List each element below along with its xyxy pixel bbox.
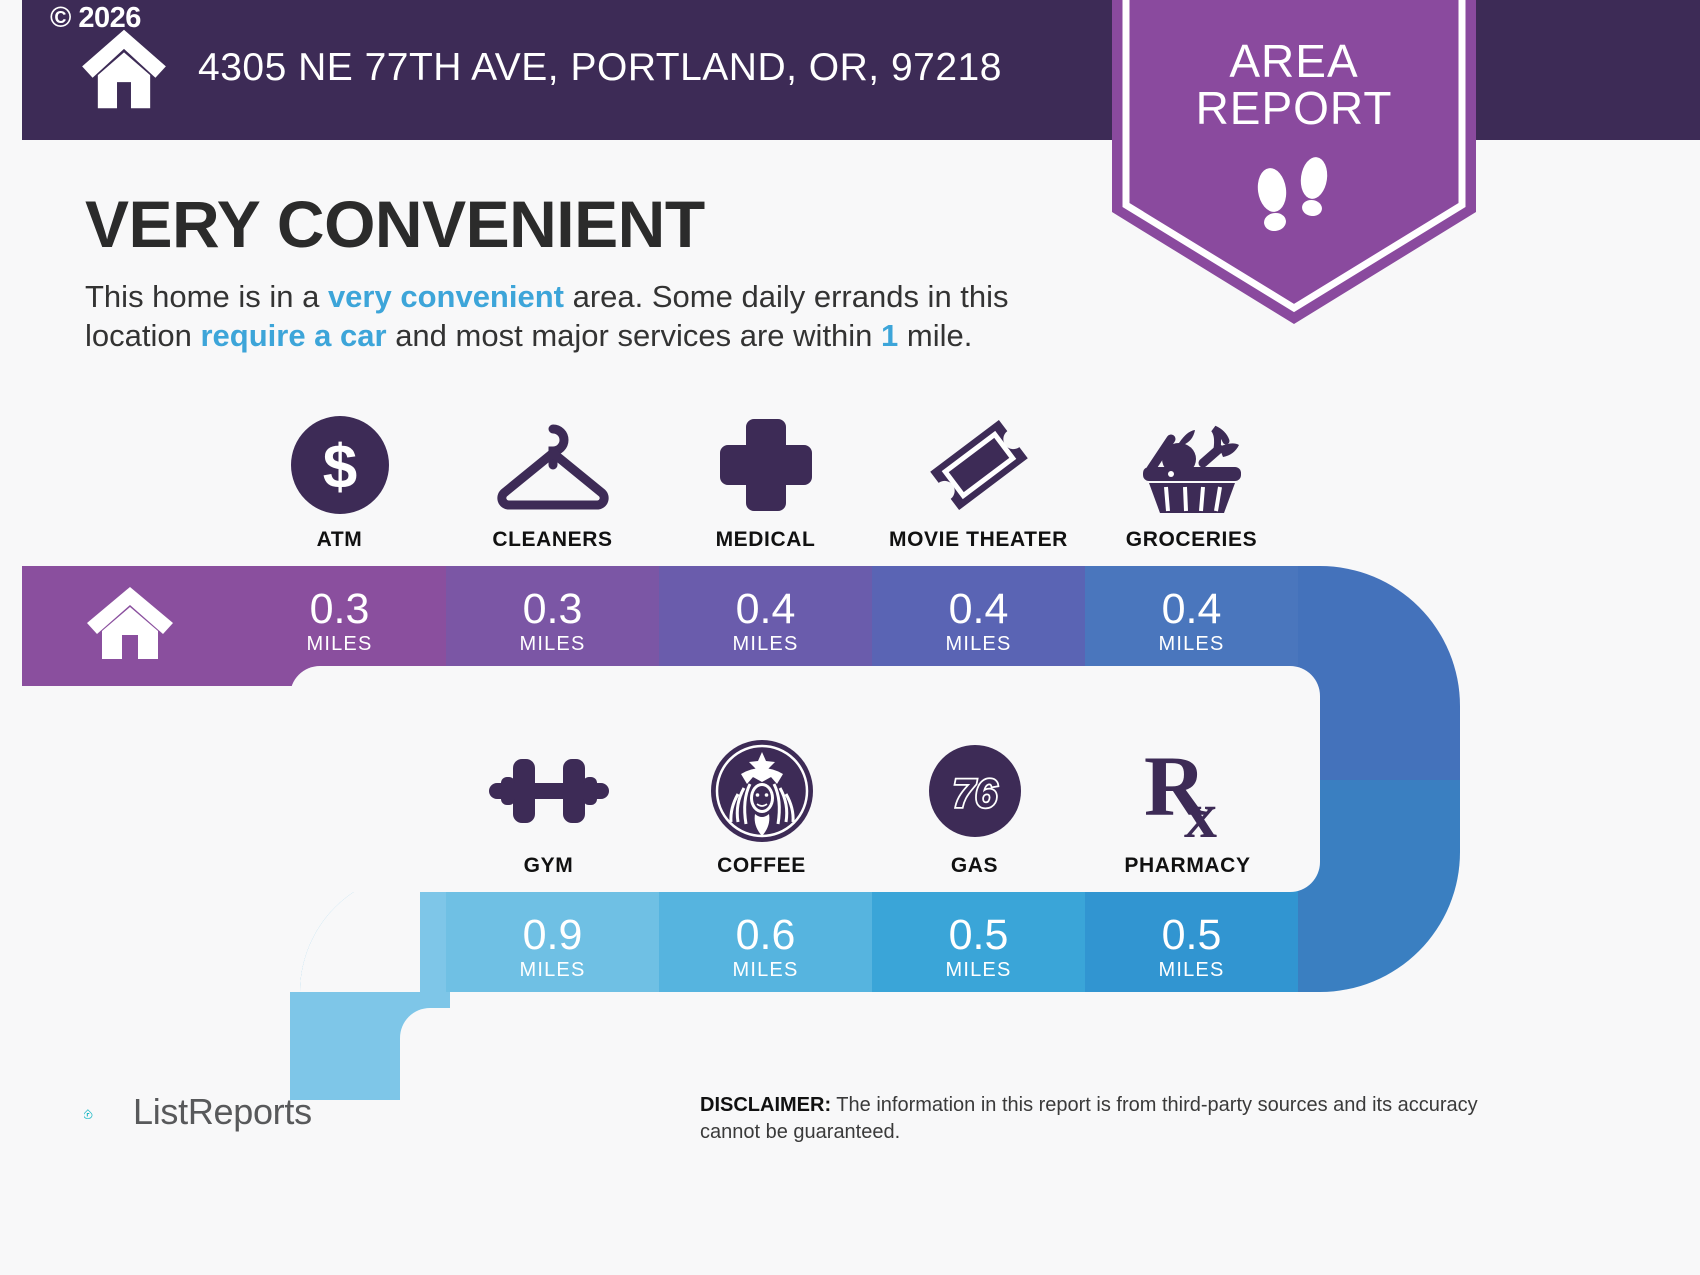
svg-text:$: $ (322, 433, 356, 502)
footprints-icon (1246, 152, 1342, 248)
distance-unit: MILES (659, 958, 872, 982)
distance-cleaners: 0.3 MILES (446, 586, 659, 656)
amenity-label: GROCERIES (1126, 528, 1257, 552)
amenity-row-bottom: GYM (442, 738, 1294, 878)
amenity-label: GYM (524, 854, 574, 878)
distance-value: 0.4 (872, 586, 1085, 632)
amenity-medical[interactable]: MEDICAL (659, 412, 872, 552)
desc-highlight-3: 1 (881, 318, 898, 353)
distance-coffee: 0.6 MILES (659, 912, 872, 982)
svg-text:76: 76 (952, 772, 997, 816)
svg-text:x: x (1184, 779, 1217, 841)
distance-medical: 0.4 MILES (659, 586, 872, 656)
amenity-label: ATM (317, 528, 363, 552)
home-marker-icon (85, 585, 175, 660)
area-report-page: © 2026 4305 NE 77TH AVE, PORTLAND, OR, 9… (0, 0, 1700, 1275)
amenity-atm[interactable]: $ ATM (233, 412, 446, 552)
starbucks-icon (711, 738, 813, 844)
medical-cross-icon (718, 412, 814, 518)
distance-value: 0.5 (872, 912, 1085, 958)
brand-name: ListReports (133, 1091, 312, 1133)
distance-value: 0.3 (233, 586, 446, 632)
badge-title: AREA REPORT (1112, 38, 1476, 132)
disclaimer-label: DISCLAIMER: (700, 1094, 831, 1116)
seventy-six-icon: 76 (929, 738, 1021, 844)
ticket-icon (926, 412, 1032, 518)
desc-highlight-2: require a car (200, 318, 386, 353)
property-address: 4305 NE 77TH AVE, PORTLAND, OR, 97218 (198, 46, 1002, 90)
badge-line-1: AREA (1112, 38, 1476, 85)
amenity-movie-theater[interactable]: MOVIE THEATER (872, 412, 1085, 552)
amenity-label: MEDICAL (716, 528, 816, 552)
amenity-label: GAS (951, 854, 998, 878)
desc-part-3: and most major services are within (387, 318, 881, 353)
distance-unit: MILES (872, 958, 1085, 982)
rx-icon: R x (1140, 738, 1236, 844)
page-description: This home is in a very convenient area. … (85, 277, 1095, 355)
page-title: VERY CONVENIENT (85, 186, 705, 262)
distance-value: 0.5 (1085, 912, 1298, 958)
copyright-label: © 2026 (50, 2, 141, 35)
distance-value: 0.4 (659, 586, 872, 632)
distance-value: 0.3 (446, 586, 659, 632)
area-report-badge: AREA REPORT (1112, 0, 1476, 324)
amenity-groceries[interactable]: GROCERIES (1085, 412, 1298, 552)
distance-unit: MILES (1085, 632, 1298, 656)
distance-unit: MILES (1085, 958, 1298, 982)
distance-gym: 0.9 MILES (446, 912, 659, 982)
disclaimer: DISCLAIMER: The information in this repo… (700, 1092, 1510, 1146)
basket-icon (1137, 412, 1247, 518)
amenity-gym[interactable]: GYM (442, 738, 655, 878)
amenity-label: PHARMACY (1124, 854, 1250, 878)
desc-highlight-1: very convenient (328, 279, 564, 314)
amenity-coffee[interactable]: COFFEE (655, 738, 868, 878)
amenity-label: MOVIE THEATER (889, 528, 1068, 552)
distance-unit: MILES (872, 632, 1085, 656)
distance-unit: MILES (446, 632, 659, 656)
desc-part-1: This home is in a (85, 279, 328, 314)
hanger-icon (488, 412, 618, 518)
home-icon (80, 28, 168, 110)
distance-value: 0.9 (446, 912, 659, 958)
distance-pharmacy: 0.5 MILES (1085, 912, 1298, 982)
distance-movie-theater: 0.4 MILES (872, 586, 1085, 656)
desc-part-4: mile. (898, 318, 972, 353)
distance-gas: 0.5 MILES (872, 912, 1085, 982)
badge-line-2: REPORT (1112, 85, 1476, 132)
amenity-label: CLEANERS (492, 528, 612, 552)
distance-groceries: 0.4 MILES (1085, 586, 1298, 656)
distance-unit: MILES (446, 958, 659, 982)
distance-value: 0.4 (1085, 586, 1298, 632)
amenity-cleaners[interactable]: CLEANERS (446, 412, 659, 552)
amenity-gas[interactable]: 76 GAS (868, 738, 1081, 878)
distance-value: 0.6 (659, 912, 872, 958)
distance-unit: MILES (233, 632, 446, 656)
listreports-logo-icon (84, 1088, 128, 1140)
dollar-circle-icon: $ (291, 412, 389, 518)
amenity-row-top: $ ATM CLEANERS MEDICAL (233, 412, 1298, 552)
amenity-label: COFFEE (717, 854, 806, 878)
dumbbell-icon (487, 738, 611, 844)
distance-atm: 0.3 MILES (233, 586, 446, 656)
distance-unit: MILES (659, 632, 872, 656)
amenity-pharmacy[interactable]: R x PHARMACY (1081, 738, 1294, 878)
